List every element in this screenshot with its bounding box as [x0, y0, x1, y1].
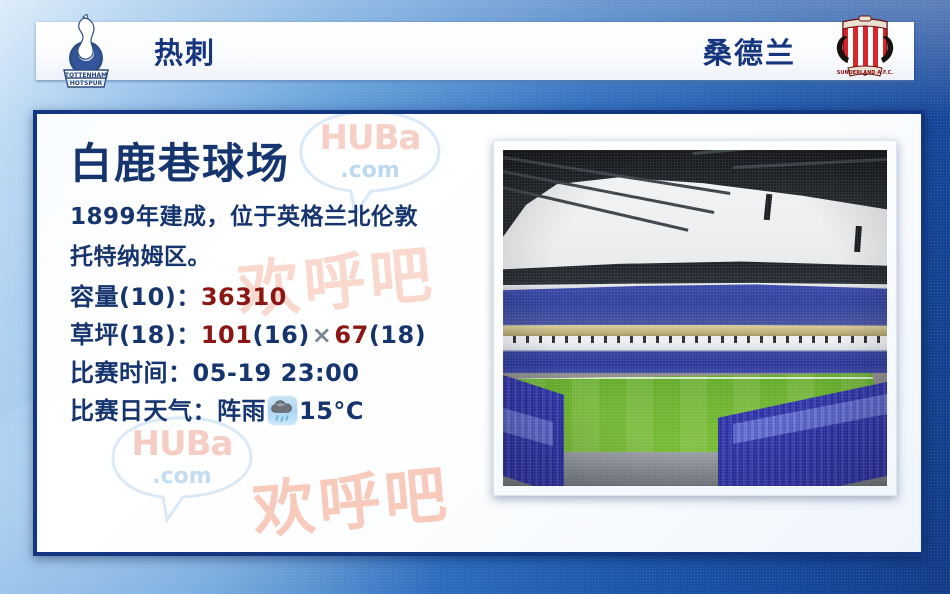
home-team-name: 热刺	[154, 30, 216, 72]
stadium-info-column: 白鹿巷球场 1899年建成，位于英格兰北伦敦 托特纳姆区。 容量(10)：363…	[70, 142, 490, 431]
capacity-label: 容量(10)：	[70, 283, 201, 311]
svg-text:SUNDERLAND A.F.C.: SUNDERLAND A.F.C.	[837, 70, 894, 76]
svg-text:TOTTENHAM: TOTTENHAM	[65, 72, 107, 79]
cloud-shape	[271, 400, 294, 413]
weather-row: 比赛日天气：阵雨 15°C	[70, 393, 490, 431]
photo-vignette	[503, 150, 887, 486]
stadium-info-panel: HUBa .com HUBa .com 欢呼吧 欢呼吧 白鹿巷球场 1899年建…	[33, 110, 925, 556]
pitch-width: 67	[334, 321, 368, 349]
weather-condition: 阵雨	[217, 397, 266, 425]
away-team-name: 桑德兰	[703, 30, 796, 72]
weather-temperature: 15°C	[299, 397, 364, 425]
rain-drop-3	[285, 415, 289, 421]
pitch-label: 草坪(18)：	[70, 321, 201, 349]
match-time-label: 比赛时间：	[70, 359, 193, 387]
stadium-photo	[503, 150, 887, 486]
stadium-title: 白鹿巷球场	[70, 142, 490, 186]
pitch-length: 101	[201, 321, 253, 349]
pitch-length-note: (16)	[252, 321, 309, 349]
rain-drop-2	[280, 416, 284, 422]
weather-label: 比赛日天气：	[70, 397, 217, 425]
stadium-description-line-1: 1899年建成，位于英格兰北伦敦	[70, 200, 490, 236]
stadium-description-line-2: 托特纳姆区。	[70, 240, 490, 276]
pitch-row: 草坪(18)：101(16)×67(18)	[70, 317, 490, 355]
rain-drop-1	[275, 415, 279, 421]
match-time-row: 比赛时间：05-19 23:00	[70, 355, 490, 393]
watermark-brand-bottom: 欢呼吧	[248, 444, 453, 551]
rain-shower-icon	[267, 395, 298, 426]
tottenham-hotspur-crest: TOTTENHAM HOTSPUR	[60, 14, 112, 90]
capacity-value: 36310	[201, 283, 287, 311]
match-header-bar: TOTTENHAM HOTSPUR 热刺 桑德兰 SUNDERLAND A.F.…	[36, 22, 914, 80]
page-root: TOTTENHAM HOTSPUR 热刺 桑德兰 SUNDERLAND A.F.…	[0, 0, 950, 594]
match-time-value: 05-19 23:00	[193, 359, 360, 387]
svg-text:HOTSPUR: HOTSPUR	[70, 80, 103, 87]
pitch-width-note: (18)	[369, 321, 426, 349]
capacity-row: 容量(10)：36310	[70, 279, 490, 317]
sunderland-afc-crest: SUNDERLAND A.F.C.	[834, 14, 896, 84]
pitch-separator: ×	[310, 321, 335, 349]
stadium-photo-frame	[493, 140, 897, 496]
